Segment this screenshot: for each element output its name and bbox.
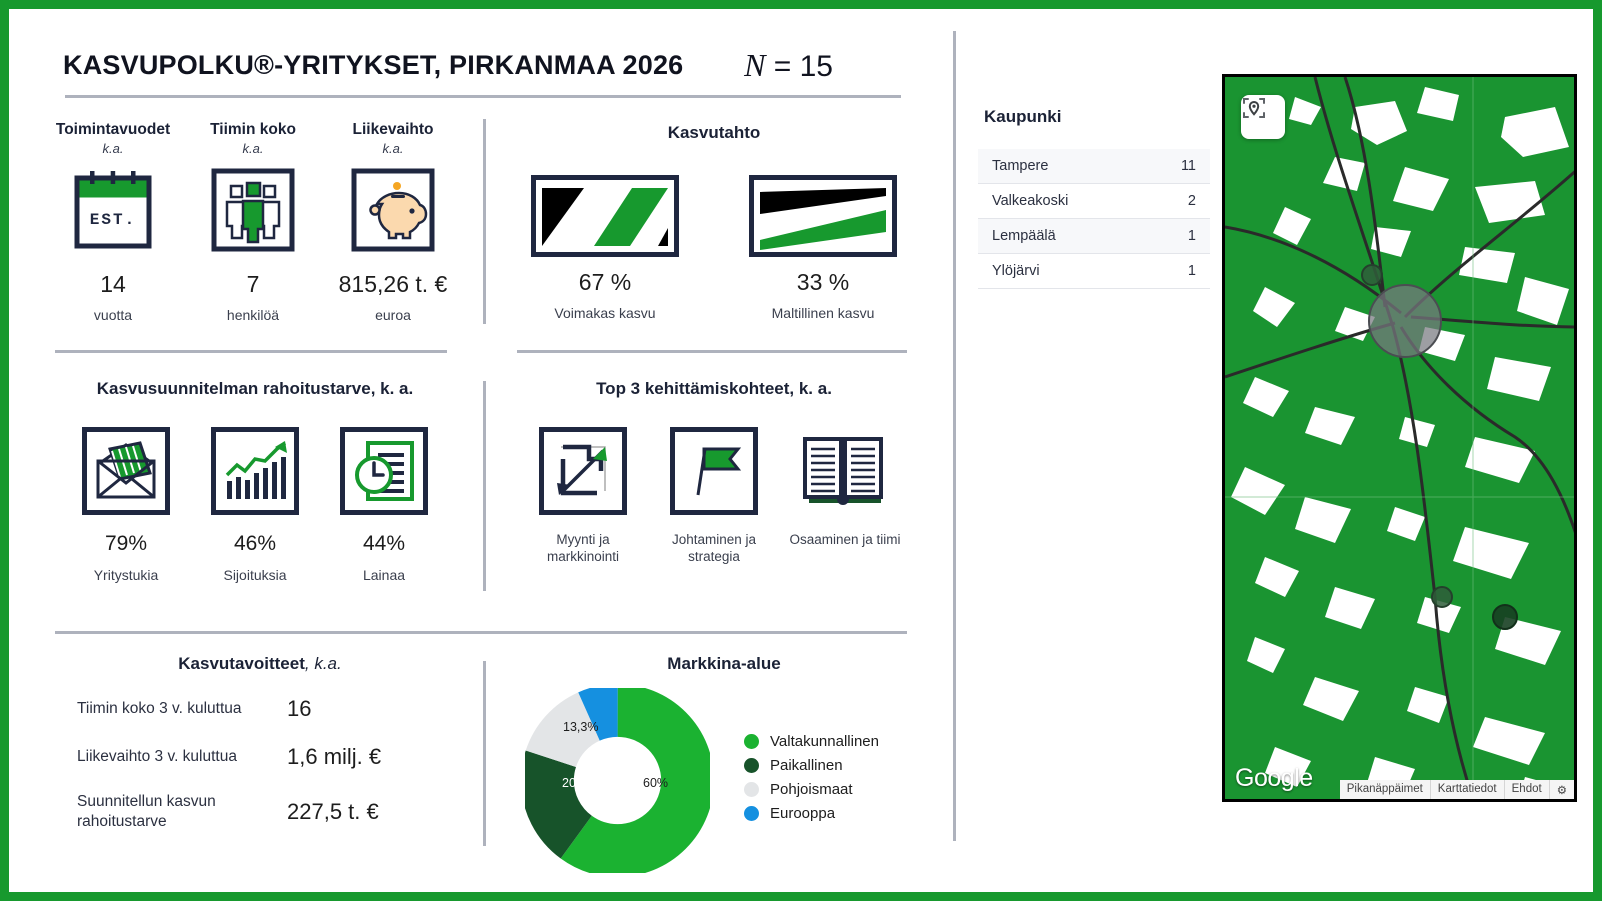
calendar-est-icon: EST. [43, 166, 183, 259]
divider-lower [55, 631, 907, 634]
financing-item-grants: 79% Yritystukia [71, 427, 181, 583]
goal-label: Tiimin koko 3 v. kuluttua [55, 699, 287, 719]
legend-swatch [744, 734, 759, 749]
kpi-value: 7 [183, 271, 323, 298]
kpi-unit: vuotta [43, 307, 183, 323]
kpi-average-note: k.a. [323, 141, 463, 156]
map-pin-recenter-icon[interactable] [1241, 95, 1285, 139]
donut-label-pohjoismaat: 13,3% [563, 720, 598, 734]
legend-item: Valtakunnallinen [744, 733, 879, 750]
table-row[interactable]: Valkeakoski 2 [978, 184, 1210, 219]
map-widget[interactable]: Google Pikanäppäimet Karttatiedot Ehdot … [1222, 74, 1577, 802]
money-envelope-icon [82, 427, 170, 515]
city-name: Valkeakoski [992, 193, 1068, 209]
table-row[interactable]: Lempäälä 1 [978, 219, 1210, 254]
legend-label: Paikallinen [770, 757, 843, 774]
goals-title-main: Kasvutavoitteet [178, 654, 305, 673]
financing-value: 79% [71, 532, 181, 556]
donut-label-paikallinen: 20% [562, 776, 587, 790]
divider-vertical-upper [483, 119, 486, 324]
legend-swatch [744, 758, 759, 773]
legend-item: Eurooppa [744, 805, 879, 822]
divider-right-upper [517, 350, 907, 353]
kpi-liikevaihto: Liikevaihto k.a. 815,26 t. € euroa [323, 121, 463, 323]
page-frame: KASVUPOLKU®-YRITYKSET, PIRKANMAA 2026 N … [0, 0, 1602, 901]
team-group-icon [183, 166, 323, 259]
bow-arrow-icon [539, 427, 627, 515]
legend-label: Pohjoismaat [770, 781, 853, 798]
table-row[interactable]: Tampere 11 [978, 149, 1210, 184]
top3-item-sales: Myynti ja markkinointi [524, 427, 642, 566]
legend-item: Pohjoismaat [744, 781, 879, 798]
section-title: Kasvutahto [509, 123, 919, 143]
market-area-section: Markkina-alue 60% 20% 13,3% [509, 654, 939, 873]
chart-title: Markkina-alue [509, 654, 939, 674]
page-title: KASVUPOLKU®-YRITYKSET, PIRKANMAA 2026 [63, 50, 683, 81]
pace-value: 67 % [530, 269, 680, 296]
kpi-value: 14 [43, 271, 183, 298]
pace-label: Voimakas kasvu [530, 305, 680, 321]
open-book-icon [786, 427, 904, 515]
city-table-title: Kaupunki [984, 107, 1061, 127]
section-title: Top 3 kehittämiskohteet, k. a. [514, 379, 914, 399]
kpi-value: 815,26 t. € [323, 271, 463, 298]
top3-item-competence: Osaaminen ja tiimi [786, 427, 904, 566]
goals-section: Kasvutavoitteet, k.a. Tiimin koko 3 v. k… [55, 654, 465, 832]
goal-label: Liikevaihto 3 v. kuluttua [55, 747, 287, 767]
kpi-toimintavuodet: Toimintavuodet k.a. EST. 14 vuotta [43, 121, 183, 323]
city-name: Lempäälä [992, 228, 1056, 244]
section-title: Kasvusuunnitelman rahoitustarve, k. a. [55, 379, 455, 399]
map-data-link[interactable]: Karttatiedot [1430, 780, 1504, 799]
header: KASVUPOLKU®-YRITYKSET, PIRKANMAA 2026 N … [63, 37, 903, 93]
financing-label: Yritystukia [71, 567, 181, 583]
divider-left-upper [55, 350, 447, 353]
gear-icon[interactable]: ⚙ [1549, 780, 1574, 799]
legend-label: Eurooppa [770, 805, 835, 822]
clock-document-icon [340, 427, 428, 515]
steep-growth-icon [531, 175, 679, 257]
legend-label: Valtakunnallinen [770, 733, 879, 750]
goal-row: Suunnitellun kasvun rahoitustarve 227,5 … [55, 792, 465, 832]
keyboard-shortcuts-link[interactable]: Pikanäppäimet [1340, 780, 1430, 799]
legend-swatch [744, 782, 759, 797]
kpi-heading: Tiimin koko [183, 121, 323, 139]
top3-item-leadership: Johtaminen ja strategia [655, 427, 773, 566]
city-name: Ylöjärvi [992, 263, 1040, 279]
pace-item-strong: 67 % Voimakas kasvu [530, 175, 680, 321]
kpi-row: Toimintavuodet k.a. EST. 14 vuotta T [43, 121, 463, 323]
divider-vertical-lower [483, 661, 486, 846]
n-value: = 15 [774, 50, 833, 83]
sample-size-label: N = 15 [744, 47, 833, 84]
financing-item-investments: 46% Sijoituksia [200, 427, 310, 583]
map-canvas [1225, 77, 1577, 802]
chart-legend: Valtakunnallinen Paikallinen Pohjoismaat… [744, 733, 879, 829]
goal-value: 16 [287, 696, 311, 722]
financing-label: Sijoituksia [200, 567, 310, 583]
financing-item-loans: 44% Lainaa [329, 427, 439, 583]
goal-row: Liikevaihto 3 v. kuluttua 1,6 milj. € [55, 744, 465, 770]
right-panel: Kaupunki Tampere 11 Valkeakoski 2 Lempää… [956, 9, 1602, 892]
kpi-unit: henkilöä [183, 307, 323, 323]
bar-chart-growth-icon [211, 427, 299, 515]
city-name: Tampere [992, 158, 1048, 174]
kpi-tiimin-koko: Tiimin koko k.a. 7 henkilöä [183, 121, 323, 323]
city-count: 1 [1188, 228, 1196, 244]
top3-label: Osaaminen ja tiimi [786, 532, 904, 549]
top3-label: Johtaminen ja strategia [655, 532, 773, 566]
kpi-average-note: k.a. [183, 141, 323, 156]
piggy-bank-icon [323, 166, 463, 259]
city-count: 11 [1181, 158, 1196, 174]
pace-value: 33 % [748, 269, 898, 296]
kpi-heading: Toimintavuodet [43, 121, 183, 139]
n-symbol: N [744, 47, 765, 83]
financing-value: 44% [329, 532, 439, 556]
pace-label: Maltillinen kasvu [748, 305, 898, 321]
flag-icon [670, 427, 758, 515]
donut-label-valtakunnallinen: 60% [643, 776, 668, 790]
dashboard-panel: KASVUPOLKU®-YRITYKSET, PIRKANMAA 2026 N … [9, 9, 953, 892]
title-divider [65, 95, 901, 98]
goals-title-note: , k.a. [305, 654, 342, 673]
city-count: 2 [1188, 193, 1196, 209]
divider-vertical-middle [483, 381, 486, 591]
financing-section: Kasvusuunnitelman rahoitustarve, k. a. 7… [55, 379, 455, 583]
goal-label: Suunnitellun kasvun rahoitustarve [55, 792, 287, 832]
legend-swatch [744, 806, 759, 821]
map-attribution-bar: Pikanäppäimet Karttatiedot Ehdot ⚙ [1340, 780, 1574, 799]
svg-text:EST.: EST. [90, 211, 136, 229]
kpi-average-note: k.a. [43, 141, 183, 156]
pace-item-moderate: 33 % Maltillinen kasvu [748, 175, 898, 321]
kpi-heading: Liikevaihto [323, 121, 463, 139]
city-count: 1 [1188, 263, 1196, 279]
terms-link[interactable]: Ehdot [1504, 780, 1549, 799]
section-title: Kasvutavoitteet, k.a. [55, 654, 465, 674]
city-table: Tampere 11 Valkeakoski 2 Lempäälä 1 Ylöj… [978, 149, 1210, 289]
growth-pace-section: Kasvutahto 67 % Voimakas kasvu [509, 123, 919, 321]
goal-row: Tiimin koko 3 v. kuluttua 16 [55, 696, 465, 722]
table-row[interactable]: Ylöjärvi 1 [978, 254, 1210, 289]
legend-item: Paikallinen [744, 757, 879, 774]
financing-label: Lainaa [329, 567, 439, 583]
market-donut-chart: 60% 20% 13,3% [525, 688, 710, 873]
goal-value: 1,6 milj. € [287, 744, 381, 770]
goal-value: 227,5 t. € [287, 799, 379, 825]
top3-label: Myynti ja markkinointi [524, 532, 642, 566]
top3-section: Top 3 kehittämiskohteet, k. a. [514, 379, 914, 566]
kpi-unit: euroa [323, 307, 463, 323]
moderate-growth-icon [749, 175, 897, 257]
financing-value: 46% [200, 532, 310, 556]
google-logo: Google [1235, 764, 1313, 793]
